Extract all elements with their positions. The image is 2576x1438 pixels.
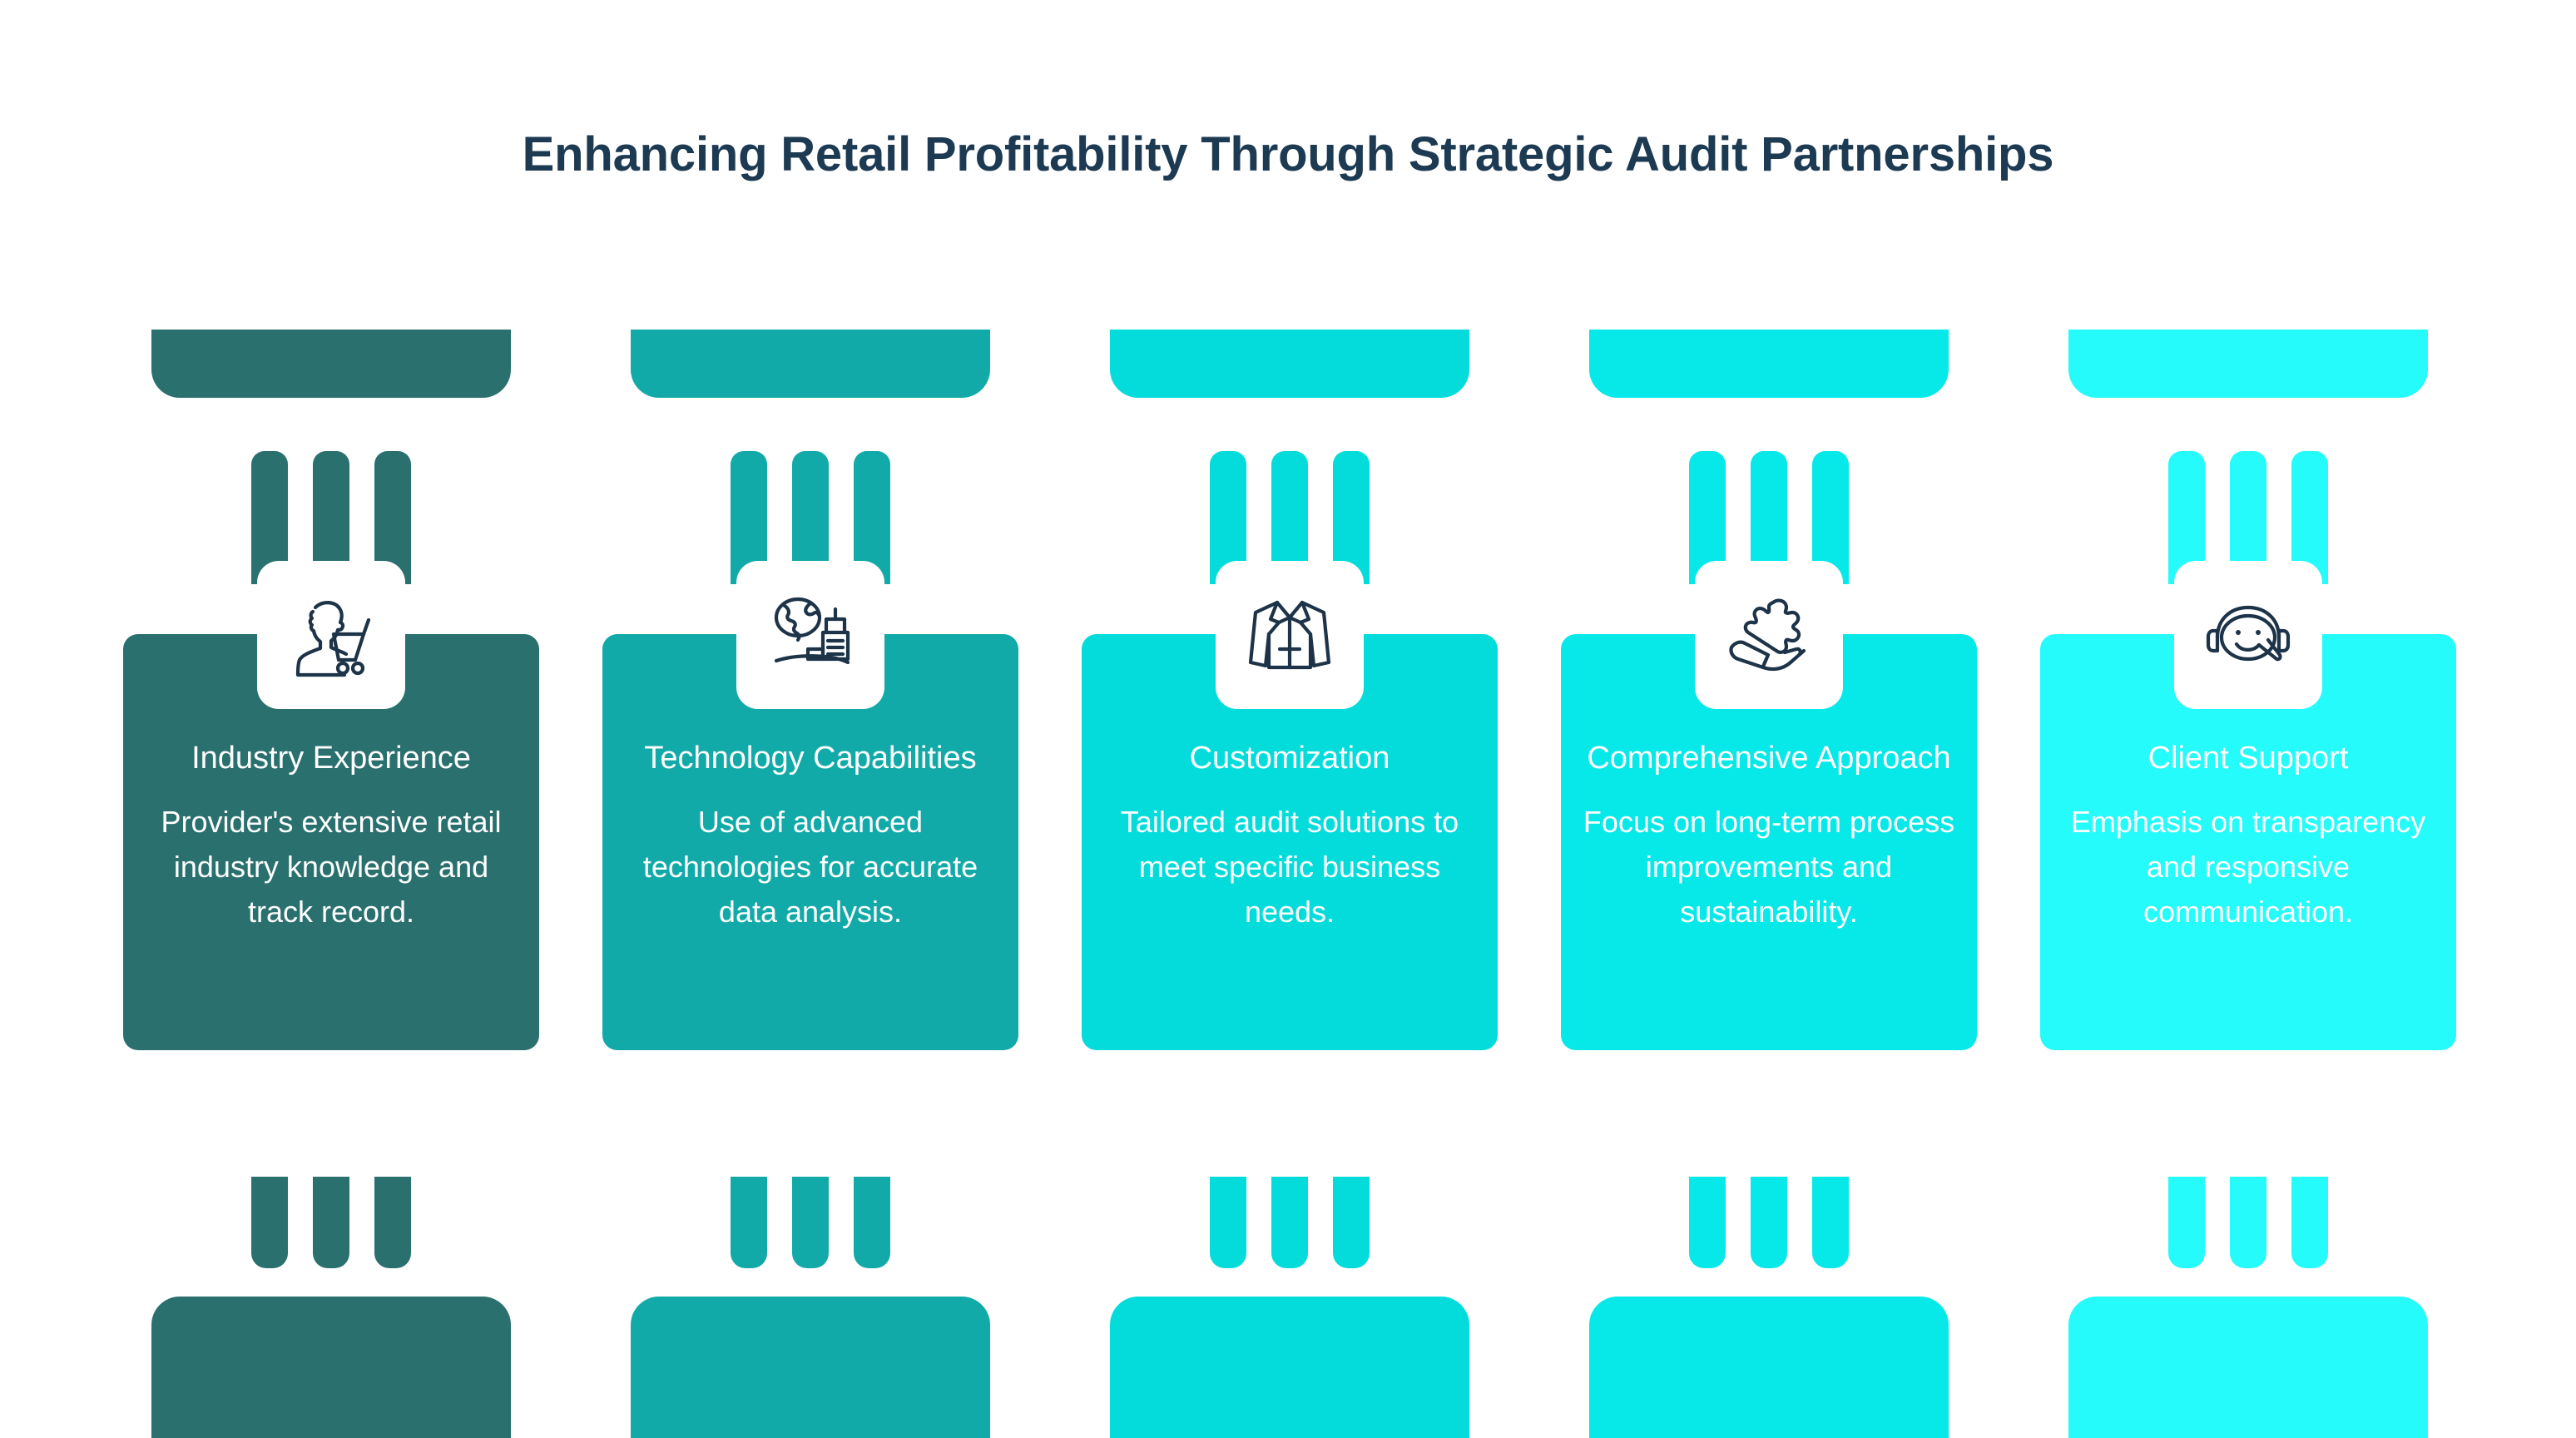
pillar-column-industry-experience[interactable]: Industry Experience Provider's extensive… [123, 326, 539, 1438]
pillar-bottom-legs [1082, 1177, 1498, 1268]
pillar-leg [1812, 1177, 1849, 1268]
pillar-bottom-base [1589, 1297, 1949, 1438]
icon-tile [1695, 561, 1843, 709]
pillar-column-comprehensive-approach[interactable]: Comprehensive Approach Focus on long-ter… [1561, 326, 1977, 1438]
person-shopping-cart-icon [282, 586, 380, 684]
icon-tile [736, 561, 884, 709]
pillar-bottom-base [2068, 1297, 2428, 1438]
pillar-top-cap [631, 330, 990, 398]
pillar-leg [854, 1177, 890, 1268]
pillar-leg [792, 1177, 829, 1268]
icon-tile [2174, 561, 2322, 709]
pillar-bottom-legs [602, 1177, 1018, 1268]
pillar-leg [1751, 1177, 1787, 1268]
pillar-top-cap [1110, 330, 1469, 398]
pillar-leg [251, 1177, 288, 1268]
pillar-column-customization[interactable]: Customization Tailored audit solutions t… [1082, 326, 1498, 1438]
pillar-leg [1333, 1177, 1370, 1268]
pillar-top-cap [1589, 330, 1949, 398]
card-heading: Comprehensive Approach [1581, 739, 1957, 778]
pillar-bottom-base [631, 1297, 990, 1438]
page-title: Enhancing Retail Profitability Through S… [0, 126, 2576, 182]
headset-support-agent-icon [2199, 586, 2297, 684]
infographic-canvas: Enhancing Retail Profitability Through S… [0, 0, 2576, 1438]
pillar-columns: Industry Experience Provider's extensive… [123, 326, 2453, 1438]
pillar-leg [731, 1177, 767, 1268]
pillar-bottom-base [151, 1297, 511, 1438]
globe-city-buildings-icon [761, 586, 859, 684]
card-heading: Industry Experience [143, 739, 519, 778]
card-heading: Client Support [2060, 739, 2436, 778]
card-body-text: Provider's extensive retail industry kno… [143, 800, 519, 935]
card-body-text: Focus on long-term process improvements … [1581, 800, 1957, 935]
hand-puzzle-piece-icon [1720, 586, 1818, 684]
icon-tile [1216, 561, 1364, 709]
pillar-leg [2291, 1177, 2328, 1268]
pillar-leg [1689, 1177, 1726, 1268]
card-body-text: Tailored audit solutions to meet specifi… [1102, 800, 1478, 935]
pillar-leg [1210, 1177, 1246, 1268]
card-body-text: Use of advanced technologies for accurat… [622, 800, 998, 935]
card-body-text: Emphasis on transparency and responsive … [2060, 800, 2436, 935]
pillar-leg [1271, 1177, 1308, 1268]
card-heading: Customization [1102, 739, 1478, 778]
pillar-leg [313, 1177, 349, 1268]
pillar-leg [374, 1177, 411, 1268]
pillar-bottom-legs [2040, 1177, 2456, 1268]
card-heading: Technology Capabilities [622, 739, 998, 778]
pillar-top-cap [2068, 330, 2428, 398]
pillar-leg [2230, 1177, 2266, 1268]
pillar-bottom-legs [1561, 1177, 1977, 1268]
pillar-top-cap [151, 330, 511, 398]
pillar-bottom-legs [123, 1177, 539, 1268]
pillar-bottom-base [1110, 1297, 1469, 1438]
icon-tile [257, 561, 405, 709]
pillar-leg [2168, 1177, 2205, 1268]
pillar-column-technology-capabilities[interactable]: Technology Capabilities Use of advanced … [602, 326, 1018, 1438]
pillar-column-client-support[interactable]: Client Support Emphasis on transparency … [2040, 326, 2456, 1438]
suit-jacket-icon [1241, 586, 1339, 684]
